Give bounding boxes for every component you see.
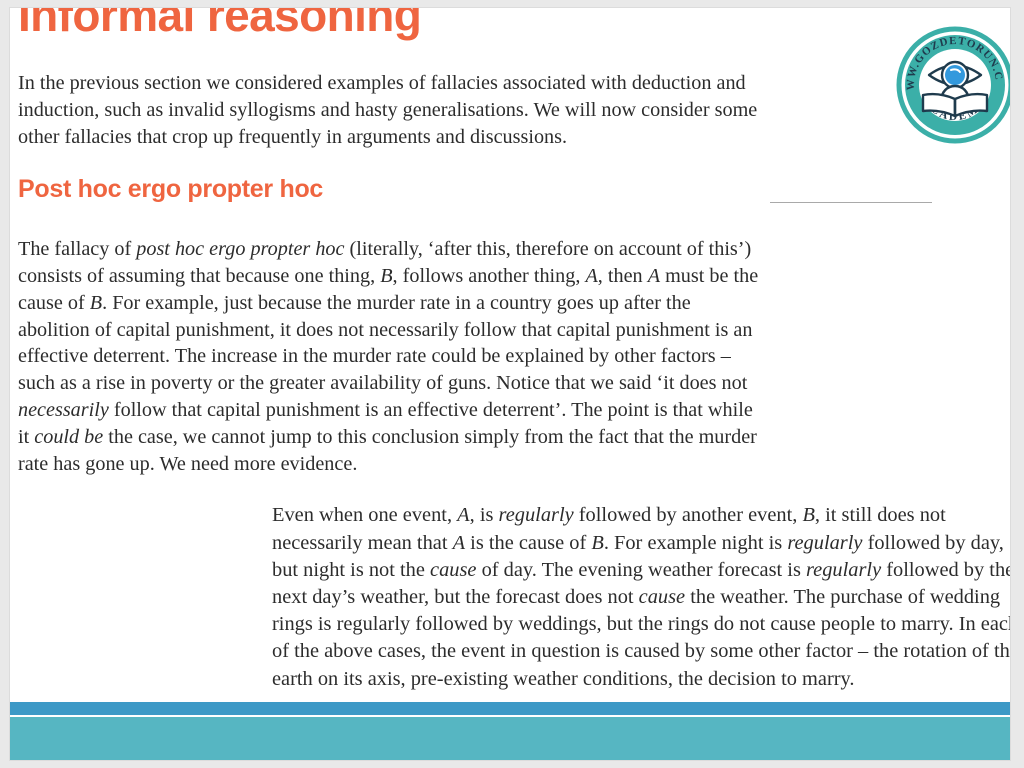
quote-italic-regularly-3: regularly — [806, 559, 881, 581]
quote-italic-cause-1: cause — [430, 559, 476, 581]
main-italic-var-a1: A — [585, 265, 597, 287]
intro-paragraph: In the previous section we considered ex… — [18, 70, 770, 150]
quote-italic-cause-2: cause — [639, 586, 685, 608]
main-paragraph: The fallacy of post hoc ergo propter hoc… — [18, 236, 766, 477]
quote-italic-var-a2: A — [453, 532, 465, 554]
main-italic-latin-phrase: post hoc ergo propter hoc — [136, 238, 344, 260]
quote-text-part-8: of day. The evening weather forecast is — [476, 559, 806, 581]
quote-block: Even when one event, A, is regularly fol… — [272, 502, 1010, 692]
main-text-part-4: , then — [598, 265, 648, 287]
slide-canvas: Informal reasoning In the previous secti… — [10, 8, 1010, 760]
footer-band-blue — [10, 702, 1010, 715]
academy-logo: WWW.GOZDETORUN.COM ACADEMY — [896, 26, 1010, 144]
quote-text-part-1: Even when one event, — [272, 504, 457, 526]
footer-band-teal — [10, 717, 1010, 760]
quote-italic-var-b1: B — [802, 504, 814, 526]
main-text-part-1: The fallacy of — [18, 238, 136, 260]
main-italic-var-b1: B — [380, 265, 392, 287]
main-text-part-6: . For example, just because the murder r… — [18, 292, 752, 394]
main-italic-could-be: could be — [34, 426, 103, 448]
quote-italic-var-a1: A — [457, 504, 469, 526]
eye-iris — [945, 65, 965, 85]
quote-italic-regularly-1: regularly — [499, 504, 574, 526]
quote-text-part-2: , is — [470, 504, 499, 526]
main-text-part-3: , follows another thing, — [393, 265, 586, 287]
quote-italic-regularly-2: regularly — [787, 532, 862, 554]
section-subheading: Post hoc ergo propter hoc — [18, 175, 323, 204]
main-text-part-8: the case, we cannot jump to this conclus… — [18, 426, 757, 475]
quote-text-part-6: . For example night is — [604, 532, 788, 554]
quote-text-part-3: followed by another event, — [574, 504, 803, 526]
horizontal-divider — [770, 202, 932, 203]
quote-italic-var-b2: B — [591, 532, 603, 554]
quote-text-part-5: is the cause of — [465, 532, 591, 554]
main-italic-necessarily: necessarily — [18, 399, 109, 421]
main-italic-var-b2: B — [90, 292, 102, 314]
page-title: Informal reasoning — [18, 8, 421, 38]
main-italic-var-a2: A — [648, 265, 660, 287]
